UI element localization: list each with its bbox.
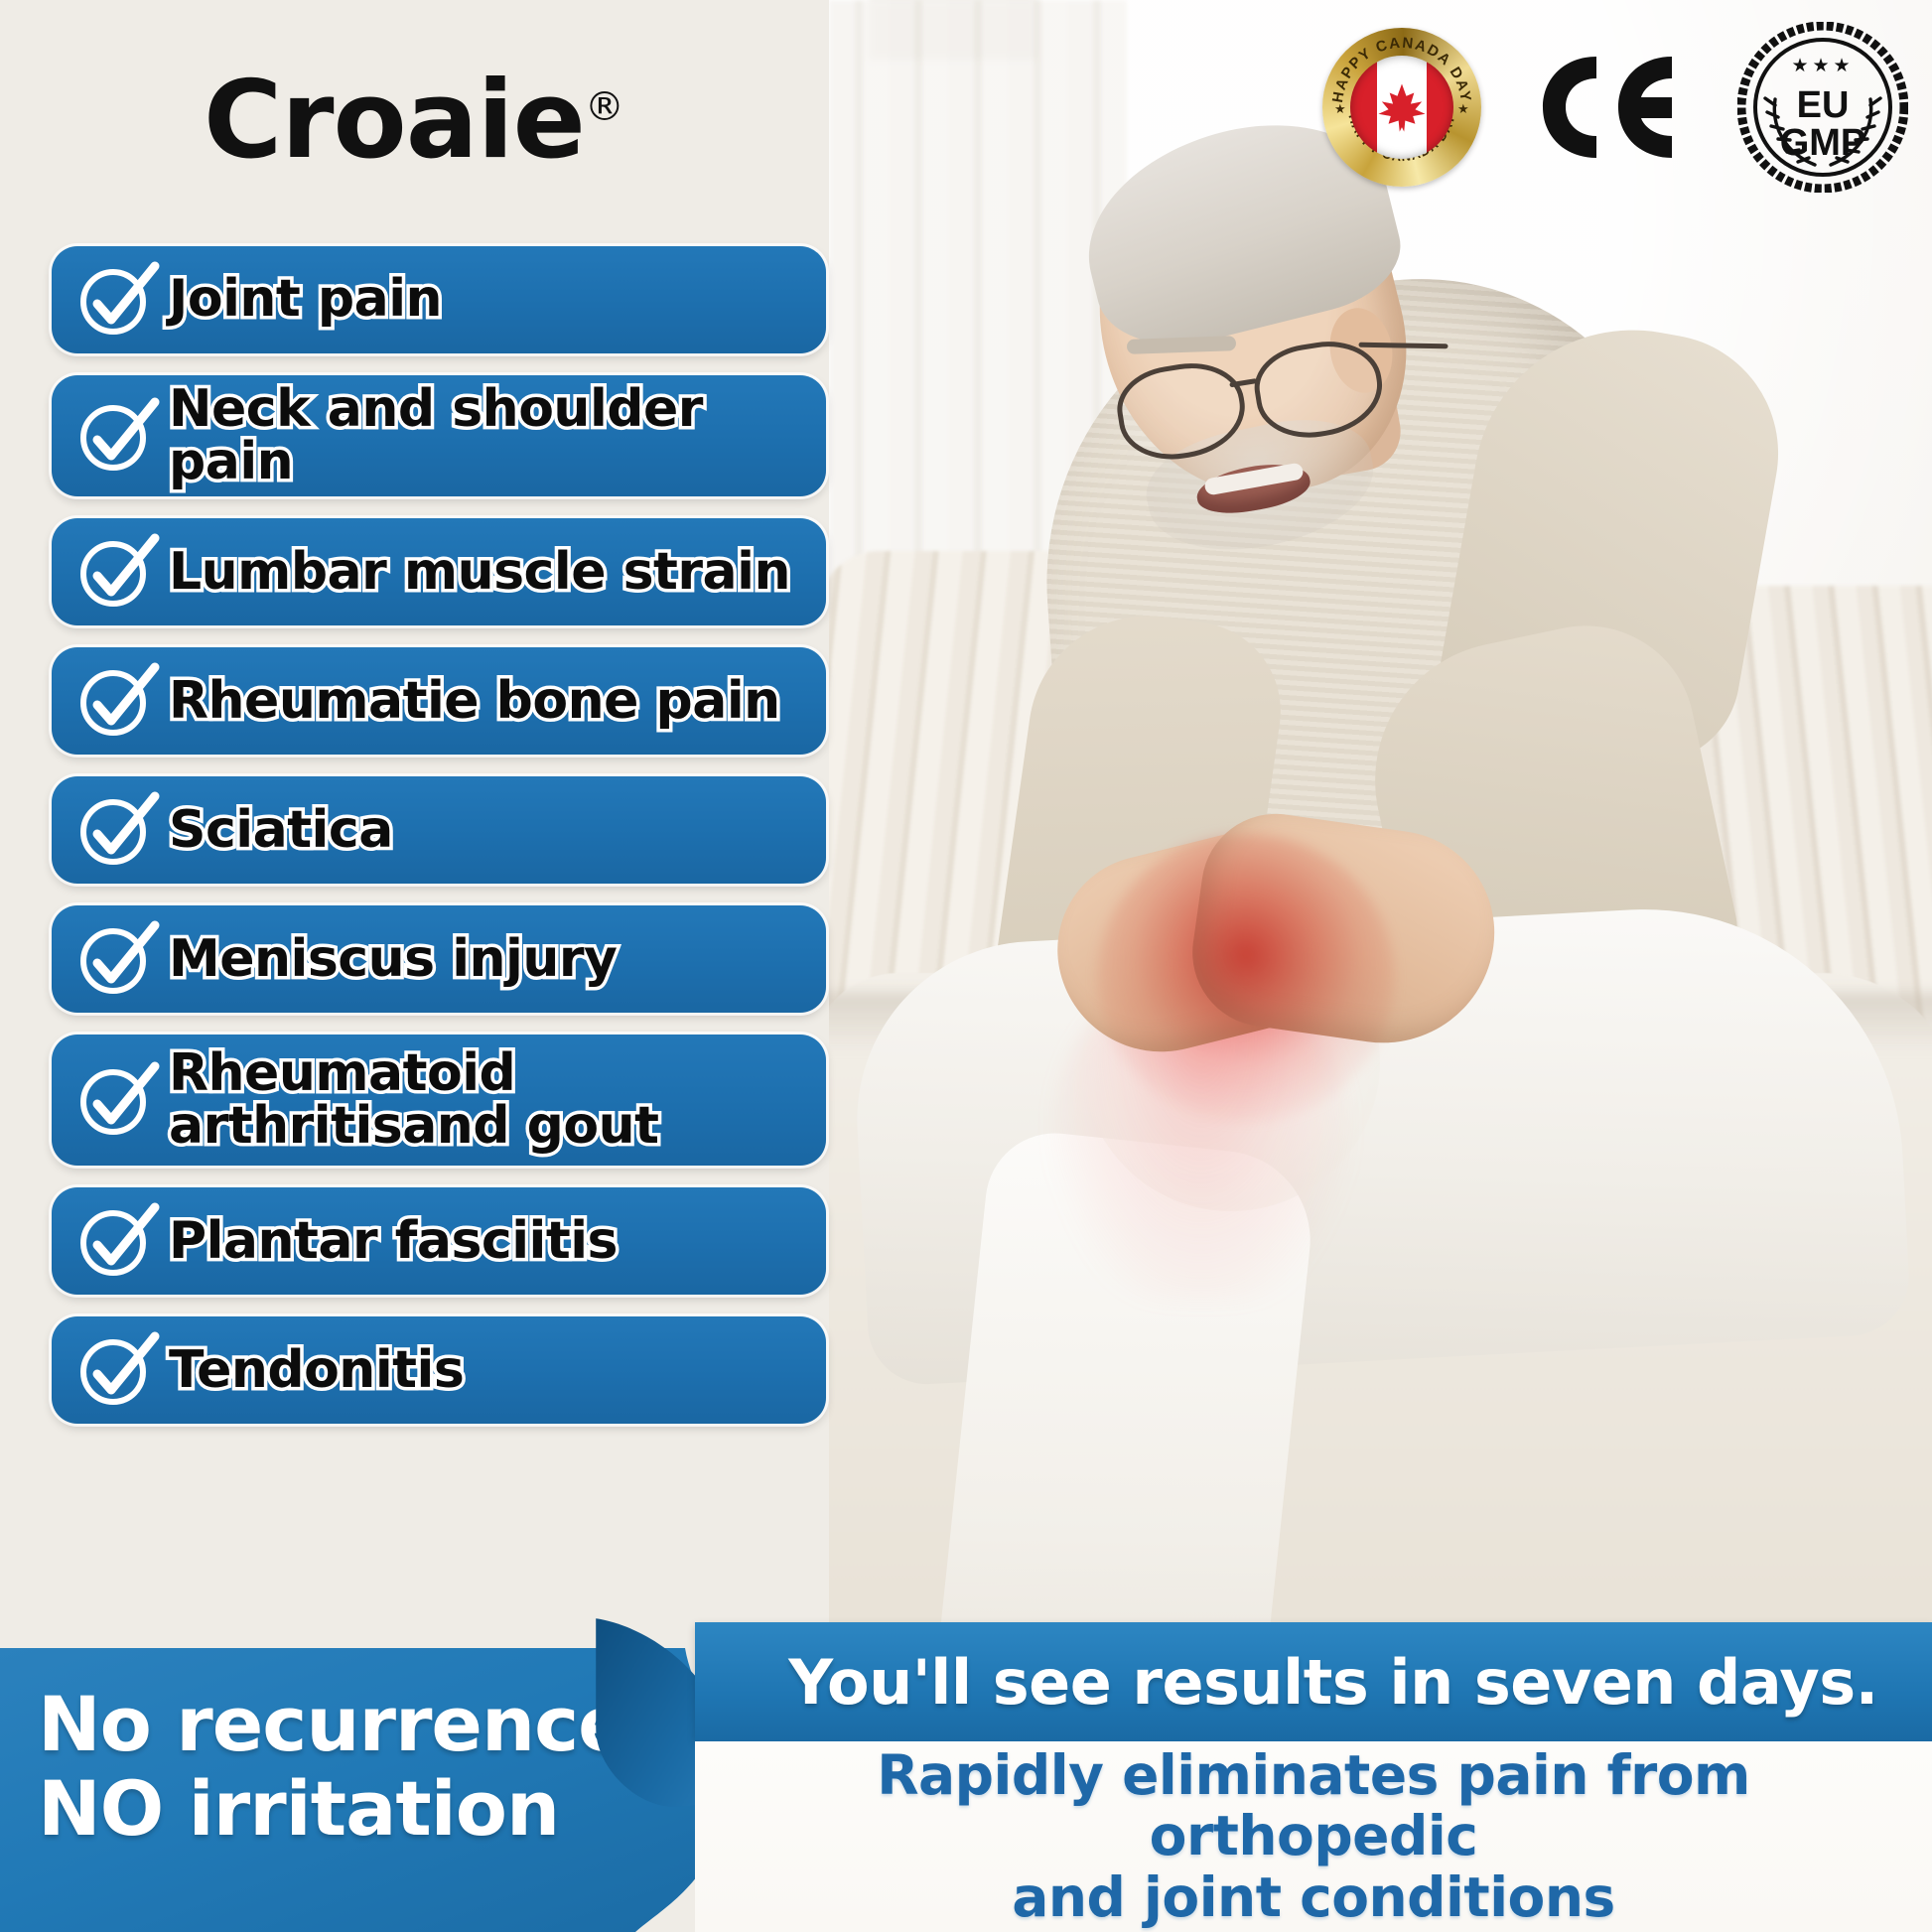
checklist-item-label: Meniscus injury [169, 933, 617, 986]
canadian-flag-icon [1350, 56, 1453, 159]
svg-text:★★★: ★★★ [1791, 56, 1854, 76]
subtext-band: Rapidly eliminates pain from orthopedic … [695, 1741, 1932, 1932]
check-circle-icon [73, 1199, 157, 1283]
benefits-checklist: Joint pain Neck and shoulder pain Lumbar… [52, 246, 826, 1446]
checklist-item-label: Sciatica [169, 804, 393, 857]
bottom-banner: No recurrence NO irritation You'll see r… [0, 1648, 1932, 1932]
checklist-item-label: Plantar fasciitis [169, 1215, 618, 1268]
subtext-line-2: and joint conditions [1012, 1865, 1614, 1929]
checklist-item-label: Rheumatoid arthritisand gout [169, 1047, 800, 1153]
brand-logo: Croaie® [204, 68, 623, 175]
hero-photo [829, 0, 1932, 1767]
check-circle-icon [73, 530, 157, 614]
check-circle-icon [73, 258, 157, 342]
headline-text: You'll see results in seven days. [749, 1646, 1877, 1719]
checklist-item[interactable]: Sciatica [52, 776, 826, 884]
checklist-item[interactable]: Joint pain [52, 246, 826, 353]
certification-badges: HAPPY CANADA DAY HAPPY CANADA DAY ★ ★ [1322, 18, 1908, 197]
eu-gmp-line2: GMP [1780, 122, 1866, 164]
product-poster: Croaie® HAPPY CANADA DAY HAPPY CANADA DA… [0, 0, 1932, 1932]
canada-day-badge: HAPPY CANADA DAY HAPPY CANADA DAY ★ ★ [1322, 28, 1481, 187]
headline-band: You'll see results in seven days. [695, 1622, 1932, 1741]
eu-gmp-seal-icon: ★★★ EU GMP [1737, 22, 1908, 193]
checklist-item[interactable]: Rheumatoid arthritisand gout [52, 1035, 826, 1166]
checklist-item[interactable]: Neck and shoulder pain [52, 375, 826, 496]
check-circle-icon [73, 917, 157, 1001]
checklist-item[interactable]: Plantar fasciitis [52, 1187, 826, 1295]
checklist-item-label: Neck and shoulder pain [169, 383, 800, 488]
svg-text:★: ★ [1457, 101, 1469, 116]
eu-gmp-line1: EU [1797, 84, 1850, 126]
pain-highlight [1097, 834, 1395, 1122]
check-circle-icon [73, 788, 157, 872]
brand-name: Croaie [204, 59, 585, 183]
check-circle-icon [73, 394, 157, 478]
maple-leaf-icon [1374, 79, 1430, 135]
subtext-line-1: Rapidly eliminates pain from orthopedic [877, 1743, 1750, 1868]
checklist-item-label: Tendonitis [169, 1344, 464, 1397]
checklist-item-label: Lumbar muscle strain [169, 546, 790, 599]
trademark-symbol: ® [585, 84, 623, 130]
checklist-item[interactable]: Tendonitis [52, 1316, 826, 1424]
checklist-item[interactable]: Meniscus injury [52, 905, 826, 1013]
check-circle-icon [73, 1328, 157, 1412]
checklist-item[interactable]: Rheumatie bone pain [52, 647, 826, 755]
check-circle-icon [73, 659, 157, 743]
svg-text:★: ★ [1334, 101, 1346, 116]
check-circle-icon [73, 1058, 157, 1142]
ce-mark-icon [1535, 53, 1684, 162]
checklist-item-label: Rheumatie bone pain [169, 675, 780, 728]
checklist-item[interactable]: Lumbar muscle strain [52, 518, 826, 625]
checklist-item-label: Joint pain [169, 273, 442, 326]
